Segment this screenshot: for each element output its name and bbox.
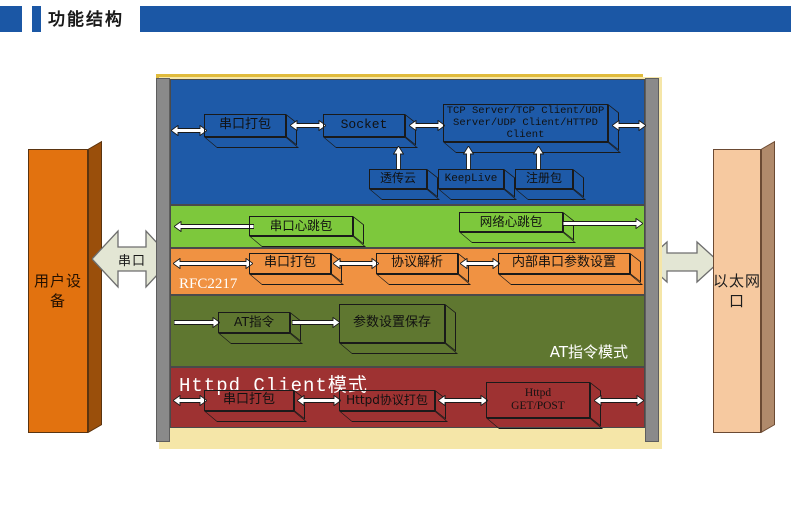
header-rule-bar bbox=[140, 6, 791, 32]
arrow-cloud-up bbox=[393, 146, 404, 170]
box-net-protocol-list-label-1: TCP Server/TCP Client/UDP bbox=[447, 105, 605, 117]
box-at-command-label: AT指令 bbox=[218, 312, 290, 333]
endpoint-ethernet-port-label: 以太网口 bbox=[713, 141, 761, 441]
endpoint-user-device-label: 用户设备 bbox=[28, 141, 88, 441]
page-title: 功能结构 bbox=[48, 7, 124, 33]
box-net-register-packet[interactable]: 注册包 bbox=[515, 169, 573, 189]
box-hb-network[interactable]: 网络心跳包 bbox=[459, 212, 563, 232]
box-net-register-packet-bottom bbox=[515, 189, 586, 200]
band-httpd-client-mode: Httpd Client模式 串口打包 Httpd协议打包 bbox=[170, 367, 645, 428]
box-httpd-protocol-pack-bottom bbox=[339, 411, 448, 422]
box-httpd-protocol-pack-label: Httpd协议打包 bbox=[339, 390, 435, 411]
box-net-serial-pack[interactable]: 串口打包 bbox=[204, 114, 286, 137]
arrow-net-right-edge bbox=[612, 120, 646, 131]
band-label-at-mode: AT指令模式 bbox=[550, 341, 628, 362]
box-net-keeplive[interactable]: KeepLive bbox=[438, 169, 504, 189]
box-httpd-serial-pack-label: 串口打包 bbox=[204, 390, 294, 411]
box-net-protocol-list-label-2: Server/UDP Client/HTTPD Client bbox=[444, 117, 607, 141]
box-at-command[interactable]: AT指令 bbox=[218, 312, 290, 333]
box-net-cloud-label: 透传云 bbox=[369, 169, 427, 189]
band-network-mode: 串口打包 Socket bbox=[170, 79, 645, 205]
box-rfc-inner-serial-params-label: 内部串口参数设置 bbox=[498, 253, 630, 274]
box-at-command-bottom bbox=[218, 333, 303, 344]
box-hb-serial[interactable]: 串口心跳包 bbox=[249, 216, 353, 236]
box-at-save-params[interactable]: 参数设置保存 bbox=[339, 304, 445, 343]
arrow-net-socket-to-protocols bbox=[409, 120, 445, 131]
box-rfc-inner-serial-params-bottom bbox=[498, 274, 643, 285]
arrow-hb-serial-left bbox=[174, 221, 254, 232]
arrow-httpd-left-edge bbox=[173, 395, 207, 406]
arrow-register-up bbox=[533, 146, 544, 170]
box-hb-serial-label: 串口心跳包 bbox=[249, 216, 353, 236]
box-net-serial-pack-bottom bbox=[204, 137, 299, 148]
box-httpd-getpost[interactable]: Httpd GET/POST bbox=[486, 382, 590, 418]
box-hb-serial-bottom bbox=[249, 236, 366, 247]
box-net-socket[interactable]: Socket bbox=[323, 114, 405, 137]
box-hb-network-bottom bbox=[459, 232, 576, 243]
box-rfc-protocol-parse-bottom bbox=[376, 274, 471, 285]
arrow-net-left-edge bbox=[171, 125, 207, 136]
box-rfc-serial-pack-bottom bbox=[249, 274, 344, 285]
arrow-keeplive-up bbox=[463, 146, 474, 170]
box-rfc-inner-serial-params[interactable]: 内部串口参数设置 bbox=[498, 253, 630, 274]
arrow-httpd-protocol-to-getpost bbox=[438, 395, 488, 406]
box-net-cloud[interactable]: 透传云 bbox=[369, 169, 427, 189]
box-httpd-getpost-label-2: GET/POST bbox=[511, 400, 565, 413]
box-rfc-protocol-parse[interactable]: 协议解析 bbox=[376, 253, 458, 274]
arrow-net-pack-to-socket bbox=[290, 120, 326, 131]
box-httpd-serial-pack-bottom bbox=[204, 411, 307, 422]
box-net-protocol-list[interactable]: TCP Server/TCP Client/UDP Server/UDP Cli… bbox=[443, 104, 608, 142]
arrow-httpd-right-edge bbox=[594, 395, 644, 406]
box-at-save-params-bottom bbox=[339, 343, 458, 354]
endpoint-ethernet-port-side bbox=[761, 141, 775, 433]
box-net-serial-pack-label: 串口打包 bbox=[204, 114, 286, 137]
arrow-rfc-pack-to-parse bbox=[333, 258, 379, 269]
endpoint-user-device: 用户设备 bbox=[28, 141, 88, 441]
box-httpd-protocol-pack[interactable]: Httpd协议打包 bbox=[339, 390, 435, 411]
box-hb-network-label: 网络心跳包 bbox=[459, 212, 563, 232]
box-rfc-serial-pack-label: 串口打包 bbox=[249, 253, 331, 274]
band-at-command-mode: AT指令 参数设置保存 AT指令模式 bbox=[170, 295, 645, 367]
endpoint-ethernet-port: 以太网口 bbox=[713, 141, 761, 441]
arrow-rfc-parse-to-params bbox=[460, 258, 500, 269]
box-rfc-serial-pack[interactable]: 串口打包 bbox=[249, 253, 331, 274]
box-net-keeplive-bottom bbox=[438, 189, 517, 200]
box-net-register-packet-label: 注册包 bbox=[515, 169, 573, 189]
band-label-rfc2217: RFC2217 bbox=[179, 276, 237, 293]
arrow-at-to-save bbox=[292, 317, 340, 328]
header-accent-block-left bbox=[0, 6, 22, 32]
box-net-cloud-bottom bbox=[369, 189, 440, 200]
box-httpd-getpost-label-1: Httpd bbox=[525, 387, 551, 400]
header-accent-tick bbox=[32, 6, 41, 32]
box-httpd-getpost-bottom bbox=[486, 418, 603, 429]
module-chassis: 串口打包 Socket bbox=[156, 74, 659, 446]
arrow-at-left-edge bbox=[174, 317, 220, 328]
box-httpd-serial-pack[interactable]: 串口打包 bbox=[204, 390, 294, 411]
chassis-rail-right bbox=[645, 78, 659, 442]
band-heartbeat: 串口心跳包 网络心跳包 bbox=[170, 205, 645, 248]
box-at-save-params-label: 参数设置保存 bbox=[339, 304, 445, 343]
box-net-keeplive-label: KeepLive bbox=[438, 169, 504, 189]
band-rfc2217: 串口打包 协议解析 内部串口参数设置 bbox=[170, 248, 645, 295]
arrow-httpd-pack-to-protocol bbox=[297, 395, 341, 406]
box-net-socket-label: Socket bbox=[323, 114, 405, 137]
chassis-rail-left bbox=[156, 78, 170, 442]
arrow-rfc-left-edge bbox=[173, 258, 253, 269]
box-rfc-protocol-parse-label: 协议解析 bbox=[376, 253, 458, 274]
arrow-hb-network-right bbox=[563, 218, 643, 229]
